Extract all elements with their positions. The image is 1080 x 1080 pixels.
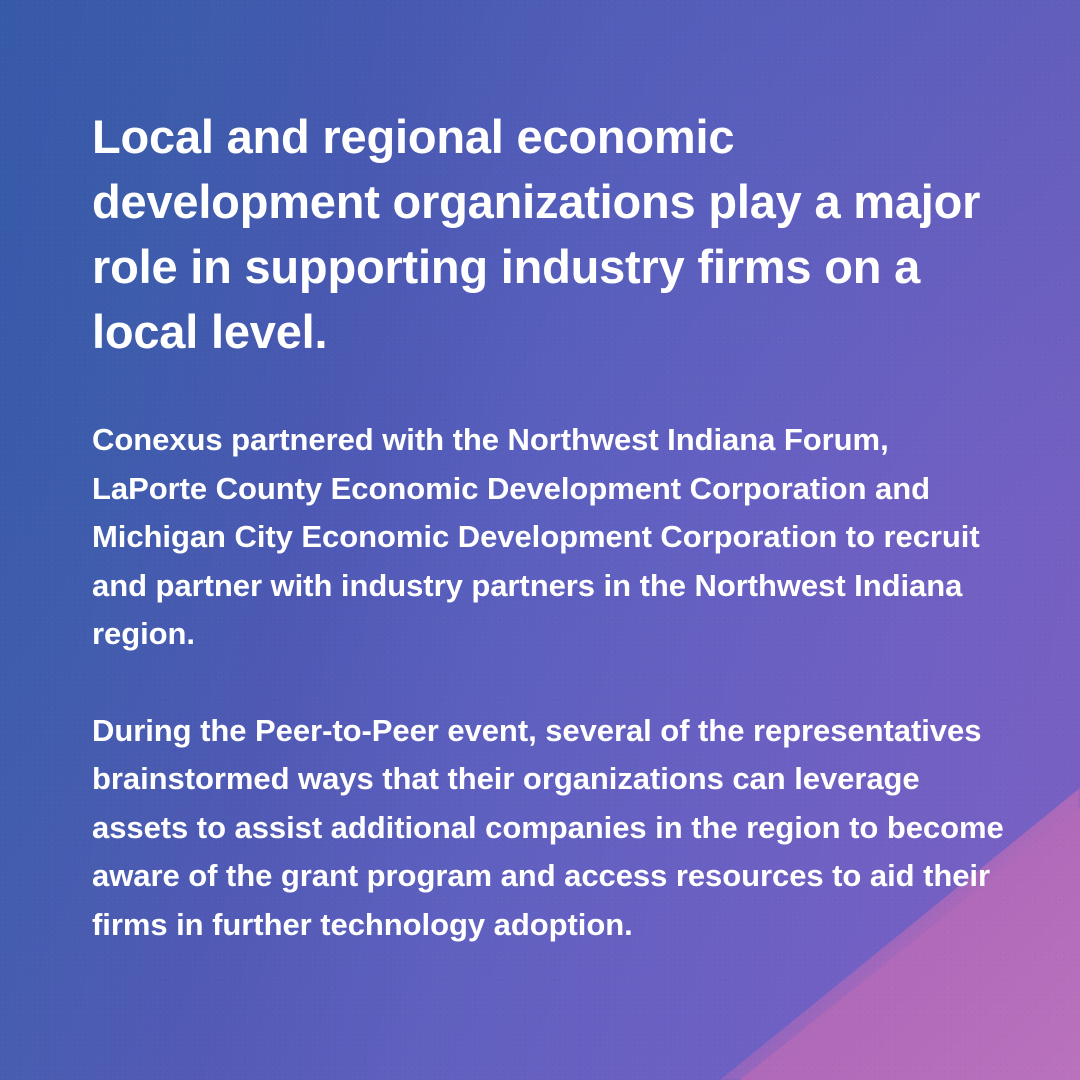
- body-paragraph-2: During the Peer-to-Peer event, several o…: [92, 707, 1007, 950]
- slide-canvas: Local and regional economic development …: [0, 0, 1080, 1080]
- slide-body: Conexus partnered with the Northwest Ind…: [92, 416, 1012, 949]
- body-paragraph-1: Conexus partnered with the Northwest Ind…: [92, 416, 1007, 659]
- slide-headline: Local and regional economic development …: [92, 104, 992, 364]
- slide-content: Local and regional economic development …: [92, 104, 1012, 949]
